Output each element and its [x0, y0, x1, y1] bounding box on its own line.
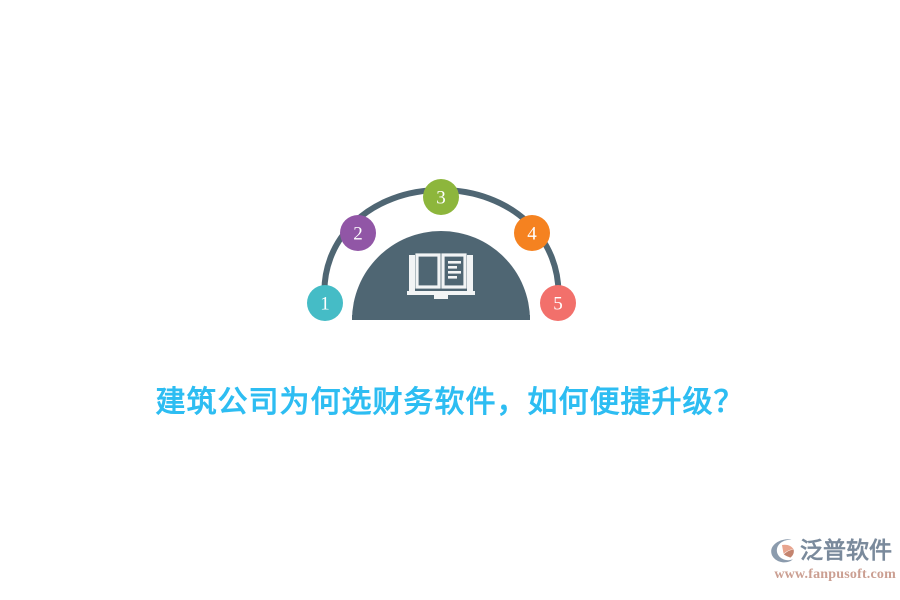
step-bubble-5-label: 5: [553, 294, 563, 315]
page-title: 建筑公司为何选财务软件，如何便捷升级？: [0, 383, 900, 423]
step-bubble-3[interactable]: 3: [423, 179, 459, 215]
step-bubble-2-label: 2: [353, 224, 363, 245]
step-bubble-4-label: 4: [527, 224, 537, 245]
watermark-brand-name: 泛普软件: [800, 537, 892, 564]
semicircle-step-infographic: 1 2 3 4 5: [290, 160, 610, 340]
step-bubble-1[interactable]: 1: [307, 285, 343, 321]
fanpu-logo-mark-icon: [770, 537, 797, 564]
step-bubble-2[interactable]: 2: [340, 215, 376, 251]
step-bubble-1-label: 1: [320, 294, 330, 315]
step-bubble-3-label: 3: [436, 188, 446, 209]
dome-shape: [352, 231, 530, 320]
page-canvas: 1 2 3 4 5 建筑公司为何选财务软件，: [0, 0, 900, 600]
step-bubble-4[interactable]: 4: [514, 215, 550, 251]
step-bubble-5[interactable]: 5: [540, 285, 576, 321]
watermark-url: www.fanpusoft.com: [770, 566, 896, 584]
watermark-logo: 泛普软件 www.fanpusoft.com: [770, 534, 896, 588]
watermark-logo-row: 泛普软件: [770, 534, 896, 566]
